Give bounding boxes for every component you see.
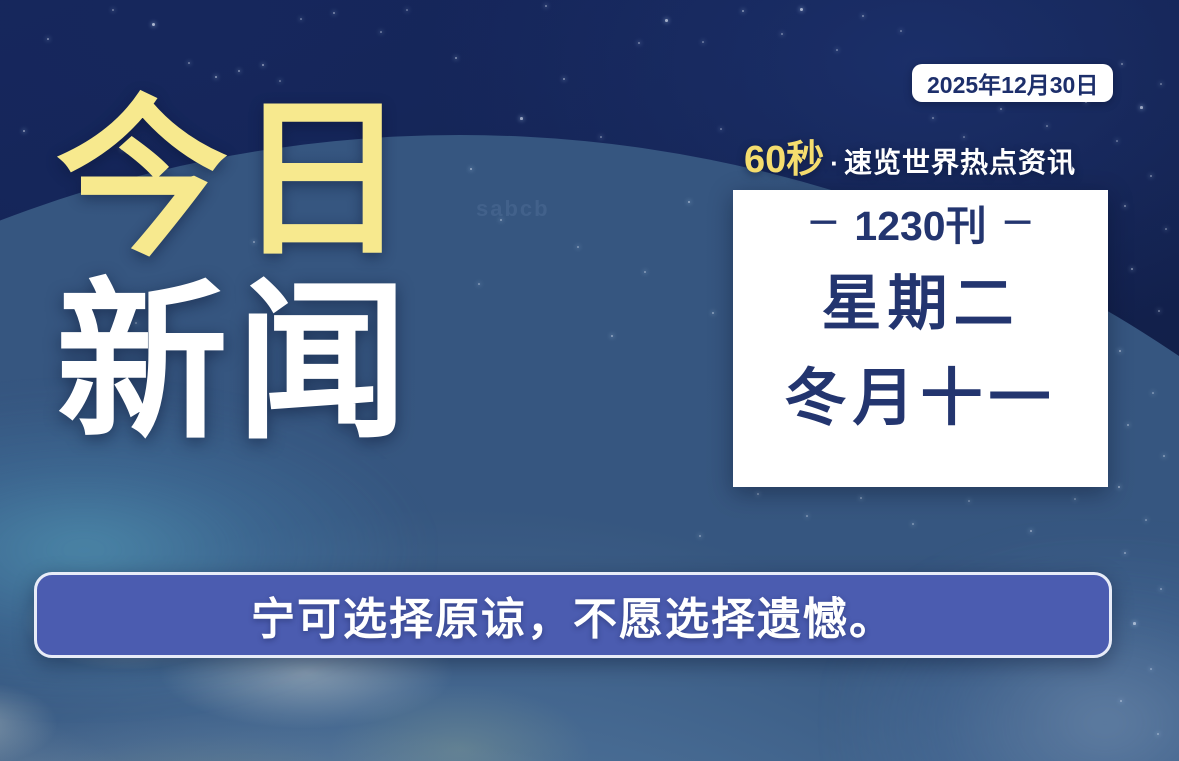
brand-title-line-2: 新闻 [56,279,486,448]
date-badge-label: 2025年12月30日 [927,66,1098,100]
brand-title-line-1: 今日 [56,96,486,265]
issue-dash-right: － [1001,207,1035,241]
issue-row: － 1230刊 － [733,206,1108,247]
issue-number: 1230刊 [854,206,986,247]
quote-bar: 宁可选择原谅，不愿选择遗憾。 [34,572,1112,658]
tagline-subtitle: 速览世界热点资讯 [844,149,1076,179]
tagline-separator: · [824,150,844,179]
lunar-date-label: 冬月十一 [784,368,1056,430]
info-card: － 1230刊 － 星期二 冬月十一 [733,190,1108,487]
date-badge: 2025年12月30日 [912,64,1113,102]
brand-title: 今日 新闻 [56,96,486,447]
tagline: 60秒 · 速览世界热点资讯 [744,141,1076,179]
weekday-label: 星期二 [822,274,1020,334]
poster-canvas: sabcb 今日 新闻 2025年12月30日 60秒 · 速览世界热点资讯 －… [0,0,1179,761]
issue-dash-left: － [806,207,840,241]
tagline-seconds: 60秒 [744,141,824,179]
quote-text: 宁可选择原谅，不愿选择遗憾。 [251,583,895,647]
